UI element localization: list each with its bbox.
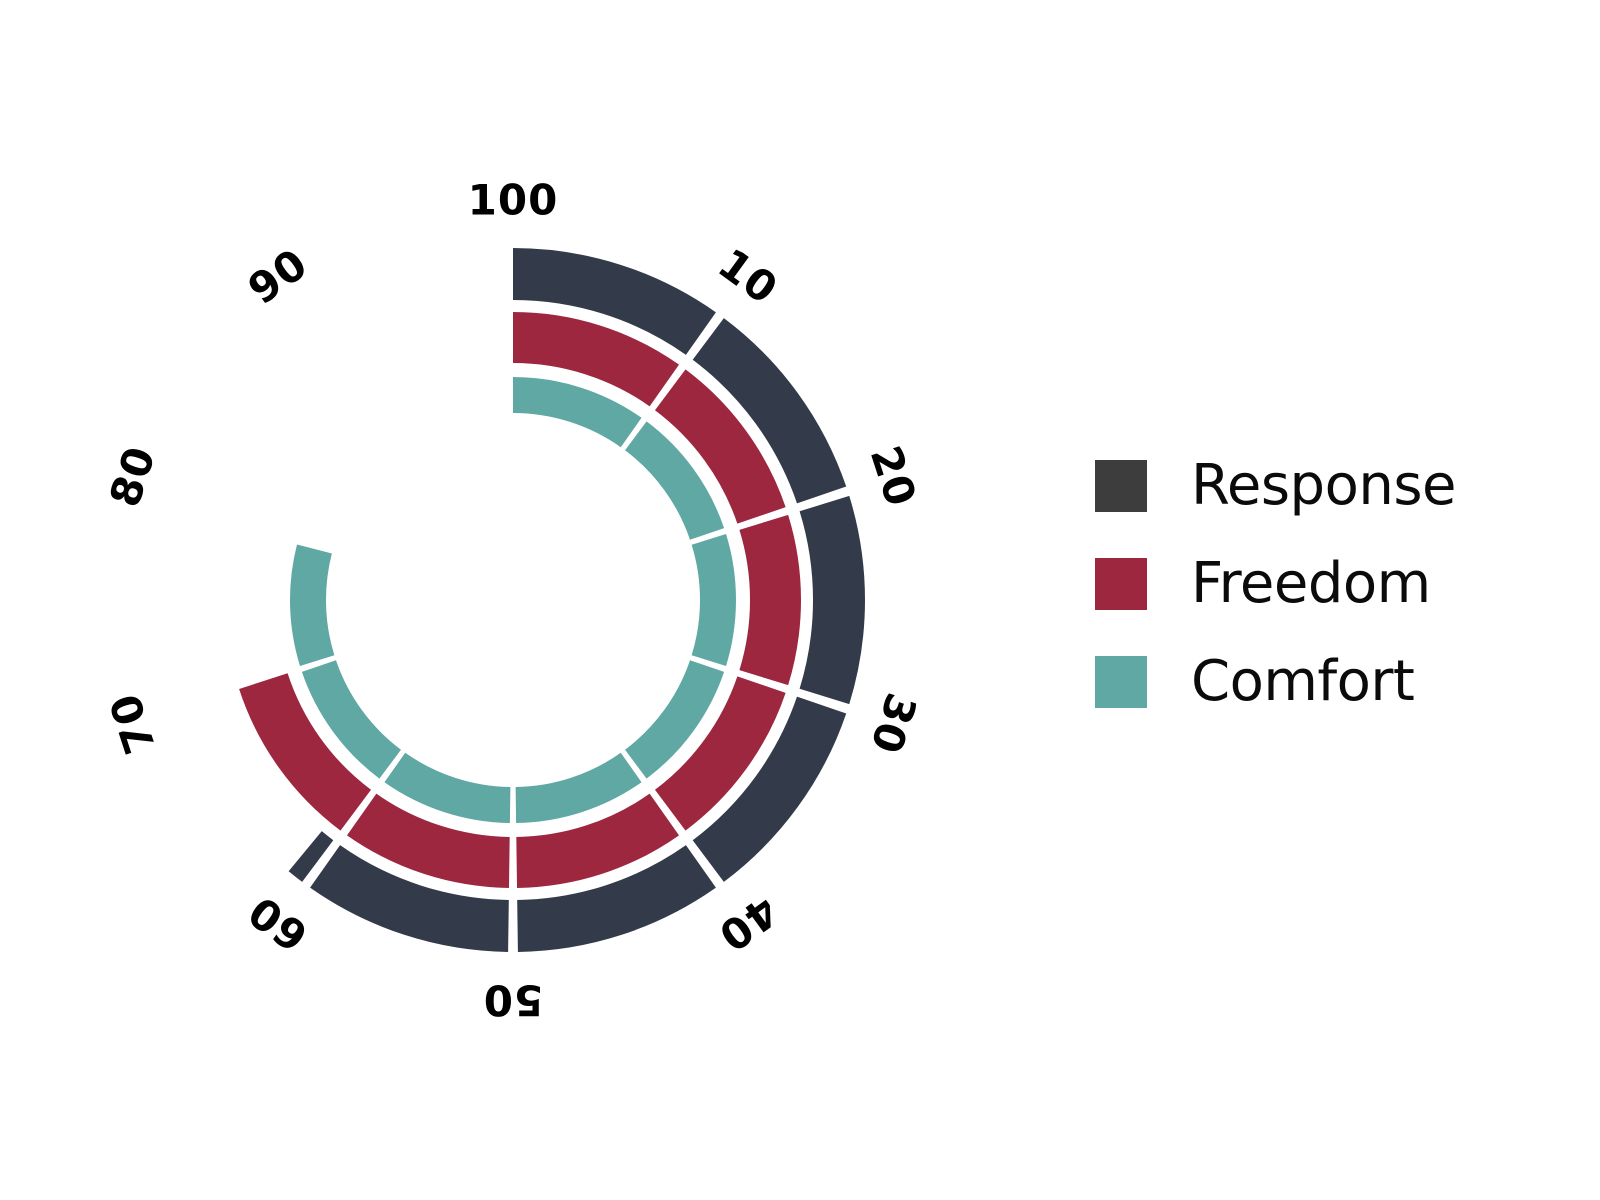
axis-tick-label: 60 — [239, 886, 317, 961]
chart-legend: Response Freedom Comfort — [1095, 455, 1456, 713]
legend-item-freedom[interactable]: Freedom — [1095, 553, 1456, 615]
legend-swatch-response — [1095, 460, 1147, 512]
axis-tick-label: 90 — [239, 239, 317, 314]
legend-label-freedom: Freedom — [1191, 556, 1431, 612]
radial-bar-segment[interactable] — [692, 534, 736, 666]
legend-item-comfort[interactable]: Comfort — [1095, 651, 1456, 713]
axis-tick-label: 70 — [100, 687, 165, 760]
legend-swatch-freedom — [1095, 558, 1147, 610]
radial-bar-segment[interactable] — [290, 545, 334, 666]
radial-bar-comfort[interactable] — [290, 377, 736, 823]
axis-tick-label: 80 — [100, 440, 165, 513]
axis-tick-label: 40 — [709, 886, 787, 961]
axis-tick-label: 100 — [468, 176, 559, 225]
axis-tick-label: 50 — [483, 976, 543, 1025]
arc-layer — [239, 248, 865, 952]
axis-tick-label: 20 — [861, 440, 926, 513]
radial-bar-segment[interactable] — [739, 515, 801, 685]
legend-label-comfort: Comfort — [1191, 654, 1414, 710]
legend-swatch-comfort — [1095, 656, 1147, 708]
radial-bar-segment[interactable] — [800, 496, 865, 704]
radial-bar-chart-figure: 100102030405060708090 Response Freedom C… — [0, 0, 1600, 1200]
tick-label-layer: 100102030405060708090 — [100, 176, 926, 1025]
axis-tick-label: 10 — [709, 239, 787, 314]
legend-item-response[interactable]: Response — [1095, 455, 1456, 517]
legend-label-response: Response — [1191, 458, 1456, 514]
axis-tick-label: 30 — [861, 687, 926, 760]
